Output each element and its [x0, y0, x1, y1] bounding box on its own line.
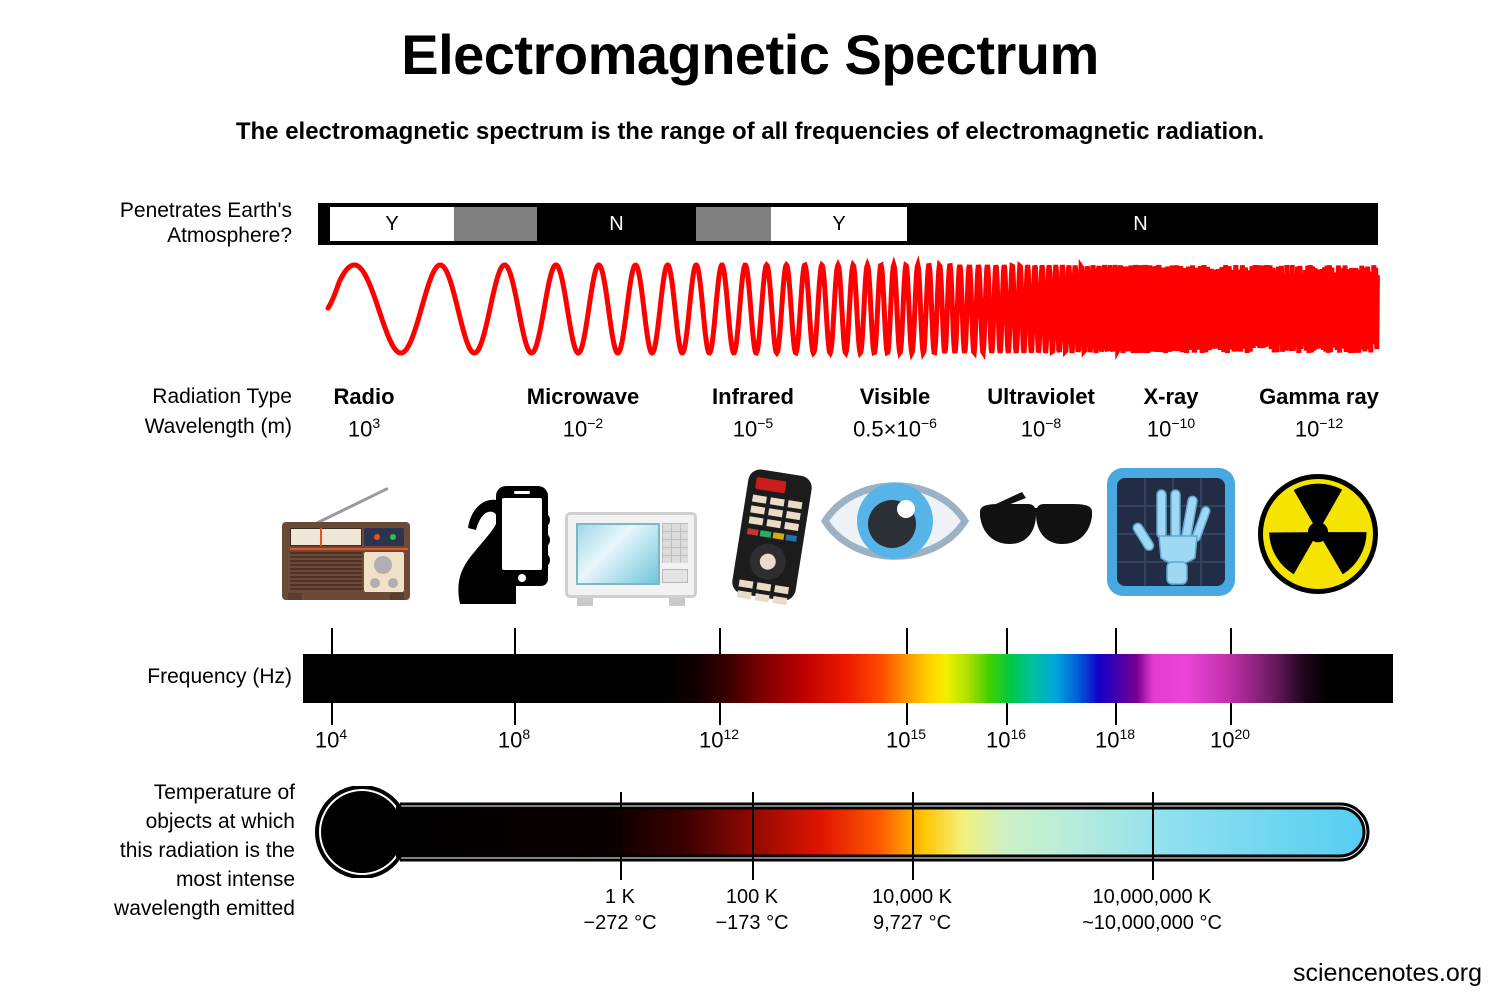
frequency-tick-label-0: 104 [251, 726, 411, 753]
temperature-celsius-3: ~10,000,000 °C [1032, 910, 1272, 936]
frequency-tick-bottom-2 [719, 703, 721, 725]
frequency-tick-top-5 [1115, 628, 1117, 654]
atmosphere-label-line1: Penetrates Earth's [20, 198, 292, 223]
frequency-tick-bottom-6 [1230, 703, 1232, 725]
frequency-tick-bottom-4 [1006, 703, 1008, 725]
frequency-tick-top-6 [1230, 628, 1232, 654]
frequency-tick-bottom-1 [514, 703, 516, 725]
frequency-tick-bottom-3 [906, 703, 908, 725]
temperature-label-line5: wavelength emitted [20, 894, 295, 923]
page-subtitle: The electromagnetic spectrum is the rang… [0, 118, 1500, 146]
frequency-tick-label-1: 108 [434, 726, 594, 753]
microwave-icon [565, 466, 697, 606]
radiation-icon [1258, 466, 1378, 606]
frequency-tick-label-2: 1012 [639, 726, 799, 753]
radiation-type-label: Radiation Type [20, 384, 292, 409]
atmosphere-segment-5: N [907, 207, 1374, 241]
atmosphere-segment-2: N [537, 207, 696, 241]
temperature-tick-0 [620, 792, 622, 880]
xray-hand-icon [1105, 466, 1237, 606]
wavelength-value-0: 103 [254, 415, 474, 442]
frequency-tick-top-1 [514, 628, 516, 654]
temperature-tick-3 [1152, 792, 1154, 880]
frequency-tick-top-3 [906, 628, 908, 654]
radiation-type-gamma-ray: Gamma ray [1209, 384, 1429, 410]
temperature-tick-label-3: 10,000,000 K~10,000,000 °C [1032, 884, 1272, 936]
atmosphere-penetration-bar: YNYN [318, 203, 1378, 245]
eye-icon [820, 466, 970, 606]
radiation-type-radio: Radio [254, 384, 474, 410]
temperature-celsius-2: 9,727 °C [792, 910, 1032, 936]
atmosphere-segment-0: Y [330, 207, 454, 241]
atmosphere-segment-3 [696, 207, 771, 241]
frequency-tick-top-2 [719, 628, 721, 654]
radio-icon [282, 466, 410, 606]
temperature-label-line2: objects at which [20, 807, 295, 836]
frequency-tick-top-0 [331, 628, 333, 654]
temperature-tick-2 [912, 792, 914, 880]
frequency-tick-bottom-0 [331, 703, 333, 725]
sunglasses-icon [976, 466, 1096, 606]
tv-remote-icon [730, 466, 820, 606]
atmosphere-segment-4: Y [771, 207, 907, 241]
source-credit: sciencenotes.org [1293, 959, 1482, 988]
frequency-spectrum-bar [303, 654, 1393, 703]
temperature-label-line1: Temperature of [20, 778, 295, 807]
atmosphere-segment-1 [454, 207, 537, 241]
wave-graphic [318, 248, 1380, 370]
temperature-label-line3: this radiation is the [20, 836, 295, 865]
temperature-row-label: Temperature of objects at which this rad… [20, 778, 295, 923]
temperature-kelvin-2: 10,000 K [792, 884, 1032, 910]
wavelength-label: Wavelength (m) [20, 414, 292, 439]
frequency-tick-bottom-5 [1115, 703, 1117, 725]
temperature-tick-1 [752, 792, 754, 880]
wavelength-value-6: 10−12 [1209, 415, 1429, 442]
temperature-kelvin-3: 10,000,000 K [1032, 884, 1272, 910]
page-title: Electromagnetic Spectrum [0, 22, 1500, 87]
frequency-tick-top-4 [1006, 628, 1008, 654]
frequency-axis-label: Frequency (Hz) [20, 664, 292, 689]
atmosphere-label-line2: Atmosphere? [20, 223, 292, 248]
atmosphere-row-label: Penetrates Earth's Atmosphere? [20, 198, 292, 248]
hand-phone-icon [440, 466, 560, 606]
temperature-tick-label-2: 10,000 K9,727 °C [792, 884, 1032, 936]
temperature-label-line4: most intense [20, 865, 295, 894]
frequency-tick-label-6: 1020 [1150, 726, 1310, 753]
thermometer-graphic [300, 786, 1380, 878]
